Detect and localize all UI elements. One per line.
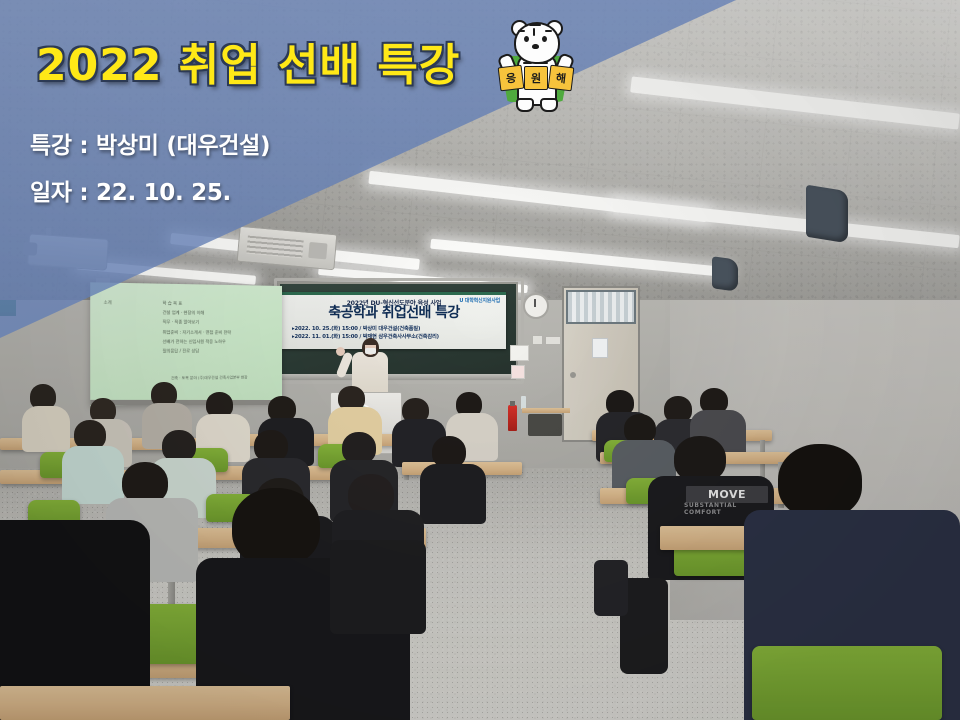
mascot-forehead-stripe: [529, 24, 541, 26]
page-title: 2022 취업 선배 특강: [36, 44, 460, 88]
mascot-foot-left: [516, 98, 534, 112]
speaker-line: 특강 : 박상미 (대우건설): [30, 126, 270, 160]
mascot-sign-2: 원: [524, 66, 548, 90]
mascot-sign-3: 해: [548, 65, 575, 92]
date-line: 일자 : 22. 10. 25.: [30, 173, 231, 207]
screenshot-root: 2022년 DU-혁신선도분야 육성 사업 축공학과 취업선배 특강 ▸2022…: [0, 0, 960, 720]
mascot-head: [514, 22, 560, 64]
mascot-forehead-stripe: [533, 28, 535, 36]
mascot-cheek-stripe: [545, 30, 552, 32]
photo-vignette: [0, 0, 960, 720]
mascot-foot-right: [540, 98, 558, 112]
mascot-nose: [532, 44, 539, 49]
mascot-eye-right: [542, 36, 547, 42]
mascot-sign-1: 응: [498, 65, 525, 92]
lecture-room-photo: 2022년 DU-혁신선도분야 육성 사업 축공학과 취업선배 특강 ▸2022…: [0, 0, 960, 720]
mascot-eye-left: [524, 36, 529, 42]
mascot-cheek-stripe: [518, 30, 525, 32]
tiger-mascot-icon: 응 원 해: [487, 14, 583, 110]
